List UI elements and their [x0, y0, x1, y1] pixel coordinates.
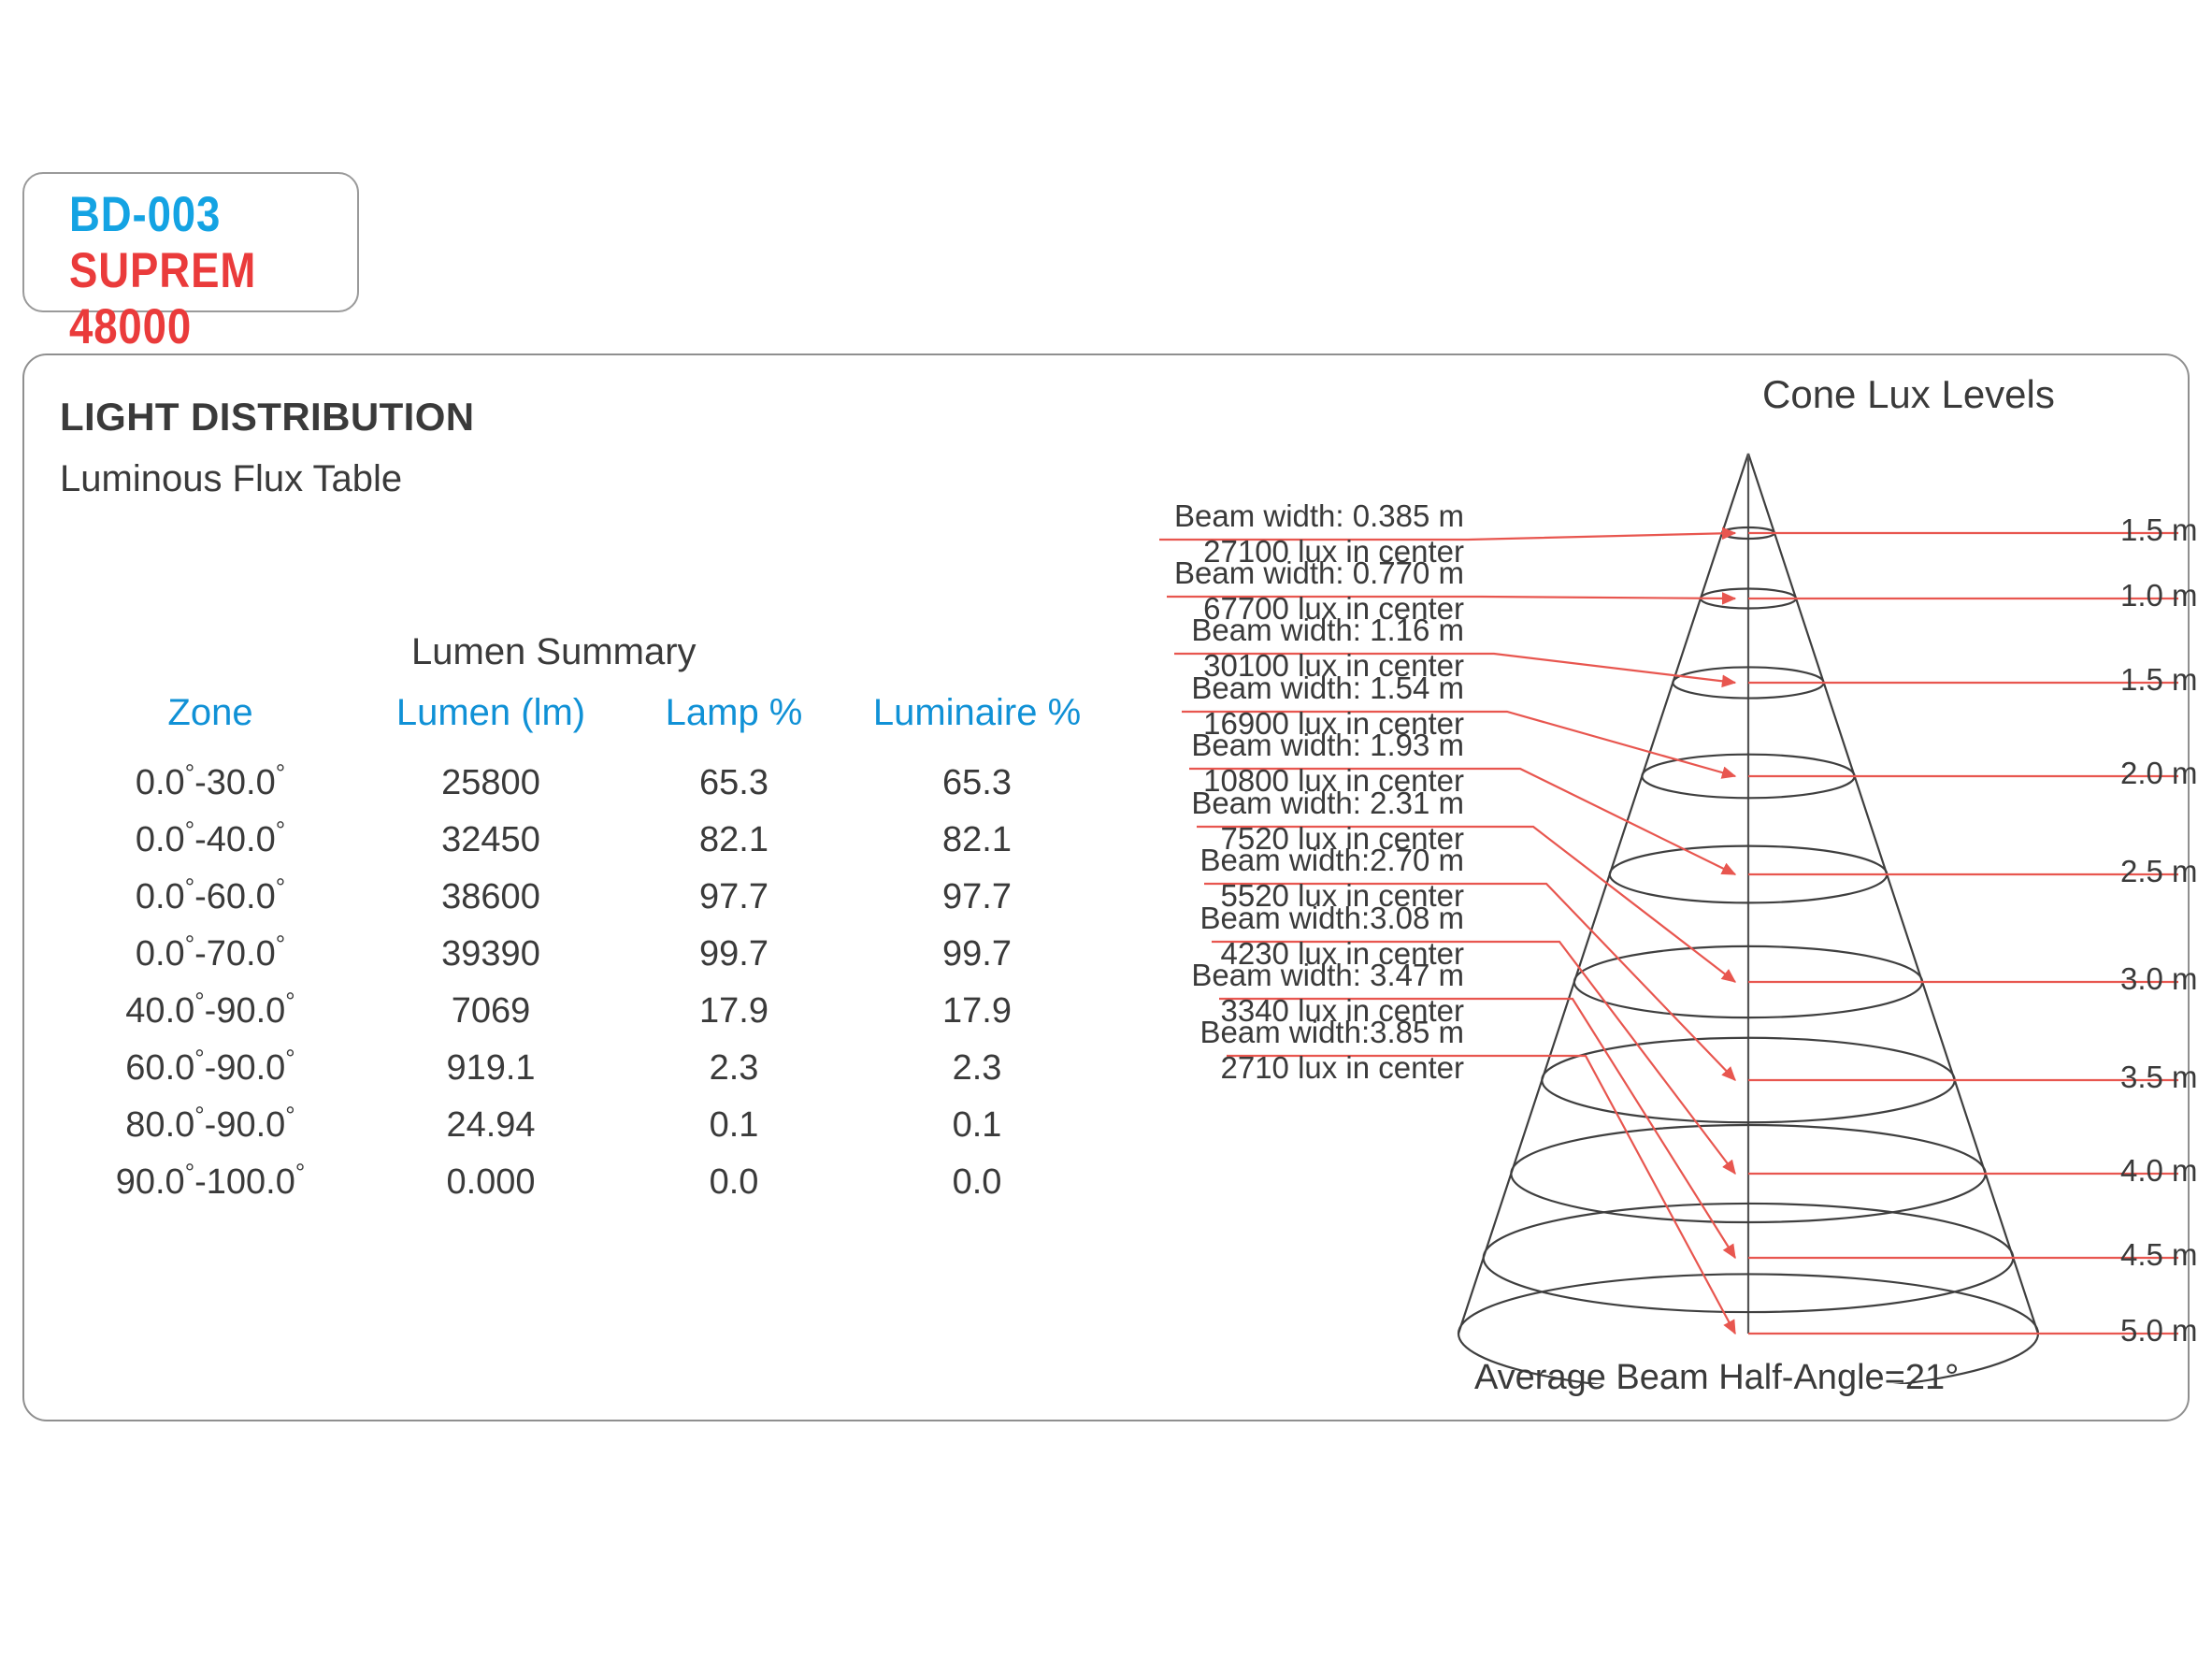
distance-label: 3.5 m	[2120, 1060, 2198, 1095]
product-badge: BD-003 SUPREM 48000	[22, 172, 359, 312]
cell-zone: 0.0°-30.0°	[56, 755, 365, 812]
beam-width-label: Beam width: 1.93 m	[1075, 728, 1468, 763]
table-header-row: Zone Lumen (lm) Lamp % Luminaire %	[56, 692, 1103, 755]
distance-label: 1.0 m	[2120, 578, 2198, 613]
beam-width-label: Beam width: 0.770 m	[1075, 555, 1468, 591]
column-header-zone: Zone	[56, 692, 365, 755]
distance-label: 2.5 m	[2120, 854, 2198, 889]
table-body: 0.0°-30.0°2580065.365.30.0°-40.0°3245082…	[56, 755, 1103, 1211]
cell-lamp-pct: 97.7	[617, 869, 851, 926]
cell-lumen: 24.94	[365, 1097, 617, 1154]
beam-callout: Beam width:3.85 m2710 lux in center	[1075, 1015, 1468, 1086]
column-header-luminaire-pct: Luminaire %	[851, 692, 1103, 755]
page-subtitle: Luminous Flux Table	[60, 458, 402, 500]
cell-lumen: 0.000	[365, 1154, 617, 1211]
cell-lamp-pct: 2.3	[617, 1040, 851, 1097]
page-title: LIGHT DISTRIBUTION	[60, 395, 475, 440]
cell-luminaire-pct: 65.3	[851, 755, 1103, 812]
table-row: 0.0°-40.0°3245082.182.1	[56, 812, 1103, 869]
cell-luminaire-pct: 99.7	[851, 926, 1103, 983]
cell-zone: 0.0°-40.0°	[56, 812, 365, 869]
beam-width-label: Beam width: 3.47 m	[1075, 958, 1468, 993]
table-row: 60.0°-90.0°919.12.32.3	[56, 1040, 1103, 1097]
cell-luminaire-pct: 82.1	[851, 812, 1103, 869]
product-name: SUPREM 48000	[69, 243, 317, 355]
cell-zone: 0.0°-60.0°	[56, 869, 365, 926]
cell-luminaire-pct: 17.9	[851, 983, 1103, 1040]
cell-lamp-pct: 17.9	[617, 983, 851, 1040]
beam-width-label: Beam width: 1.54 m	[1075, 671, 1468, 706]
cell-zone: 40.0°-90.0°	[56, 983, 365, 1040]
cell-lamp-pct: 82.1	[617, 812, 851, 869]
beam-width-label: Beam width:2.70 m	[1075, 843, 1468, 878]
column-header-lamp-pct: Lamp %	[617, 692, 851, 755]
table-row: 0.0°-60.0°3860097.797.7	[56, 869, 1103, 926]
lumen-summary-caption: Lumen Summary	[411, 631, 697, 673]
cell-zone: 0.0°-70.0°	[56, 926, 365, 983]
table-row: 0.0°-70.0°3939099.799.7	[56, 926, 1103, 983]
cell-lamp-pct: 0.1	[617, 1097, 851, 1154]
distance-label: 1.5 m	[2120, 512, 2198, 548]
cell-lamp-pct: 65.3	[617, 755, 851, 812]
distance-label: 2.0 m	[2120, 756, 2198, 791]
column-header-lumen: Lumen (lm)	[365, 692, 617, 755]
cell-zone: 80.0°-90.0°	[56, 1097, 365, 1154]
cell-luminaire-pct: 2.3	[851, 1040, 1103, 1097]
cell-luminaire-pct: 0.1	[851, 1097, 1103, 1154]
cell-luminaire-pct: 97.7	[851, 869, 1103, 926]
distance-label: 4.0 m	[2120, 1153, 2198, 1189]
table-row: 90.0°-100.0°0.0000.00.0	[56, 1154, 1103, 1211]
table-row: 0.0°-30.0°2580065.365.3	[56, 755, 1103, 812]
distance-label: 4.5 m	[2120, 1237, 2198, 1273]
beam-half-angle-caption: Average Beam Half-Angle=21°	[1474, 1358, 1959, 1398]
table-row: 40.0°-90.0°706917.917.9	[56, 983, 1103, 1040]
beam-width-label: Beam width:3.08 m	[1075, 901, 1468, 936]
luminous-flux-table: Zone Lumen (lm) Lamp % Luminaire % 0.0°-…	[56, 692, 1103, 1211]
table-row: 80.0°-90.0°24.940.10.1	[56, 1097, 1103, 1154]
distance-label: 5.0 m	[2120, 1313, 2198, 1349]
beam-width-label: Beam width: 0.385 m	[1075, 498, 1468, 534]
cell-lumen: 38600	[365, 869, 617, 926]
cell-zone: 90.0°-100.0°	[56, 1154, 365, 1211]
cell-luminaire-pct: 0.0	[851, 1154, 1103, 1211]
cell-lumen: 39390	[365, 926, 617, 983]
cell-lamp-pct: 0.0	[617, 1154, 851, 1211]
product-code: BD-003	[69, 187, 317, 243]
beam-width-label: Beam width: 1.16 m	[1075, 613, 1468, 648]
beam-width-label: Beam width:3.85 m	[1075, 1015, 1468, 1050]
cell-lumen: 919.1	[365, 1040, 617, 1097]
cell-lumen: 32450	[365, 812, 617, 869]
distance-label: 3.0 m	[2120, 961, 2198, 997]
lux-center-label: 2710 lux in center	[1075, 1050, 1468, 1086]
beam-width-label: Beam width: 2.31 m	[1075, 786, 1468, 821]
cell-lumen: 7069	[365, 983, 617, 1040]
cell-lumen: 25800	[365, 755, 617, 812]
cell-zone: 60.0°-90.0°	[56, 1040, 365, 1097]
cell-lamp-pct: 99.7	[617, 926, 851, 983]
distance-label: 1.5 m	[2120, 662, 2198, 698]
